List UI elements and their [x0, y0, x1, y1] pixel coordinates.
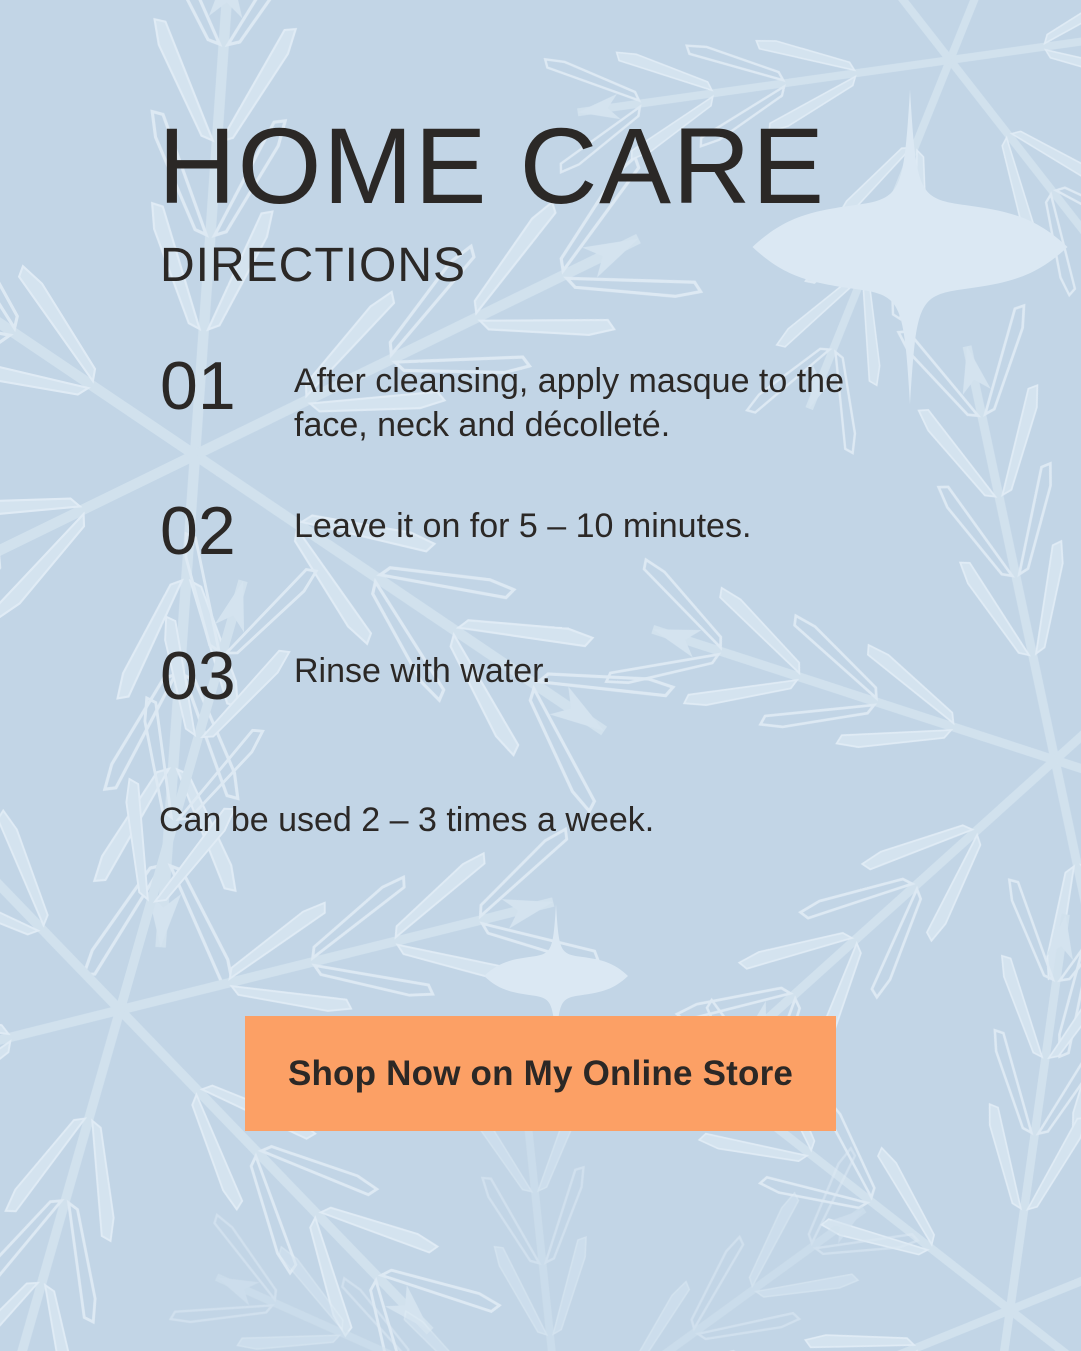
usage-frequency-note: Can be used 2 – 3 times a week.	[159, 798, 654, 842]
shop-now-button[interactable]: Shop Now on My Online Store	[245, 1016, 836, 1131]
title-block: HOME CARE DIRECTIONS	[158, 112, 826, 290]
direction-step: 03 Rinse with water.	[158, 642, 918, 742]
step-number: 03	[160, 642, 236, 710]
poster-content: HOME CARE DIRECTIONS 01 After cleansing,…	[0, 0, 1081, 1351]
home-care-directions-poster: HOME CARE DIRECTIONS 01 After cleansing,…	[0, 0, 1081, 1351]
page-title: HOME CARE	[158, 112, 826, 220]
page-subtitle: DIRECTIONS	[160, 242, 826, 290]
step-text: After cleansing, apply masque to the fac…	[294, 352, 894, 447]
step-number: 01	[160, 352, 236, 420]
directions-step-list: 01 After cleansing, apply masque to the …	[158, 352, 918, 742]
step-text: Rinse with water.	[294, 642, 894, 693]
direction-step: 02 Leave it on for 5 – 10 minutes.	[158, 497, 918, 597]
cta-container: Shop Now on My Online Store	[245, 1016, 836, 1131]
direction-step: 01 After cleansing, apply masque to the …	[158, 352, 918, 452]
step-number: 02	[160, 497, 236, 565]
step-text: Leave it on for 5 – 10 minutes.	[294, 497, 894, 548]
